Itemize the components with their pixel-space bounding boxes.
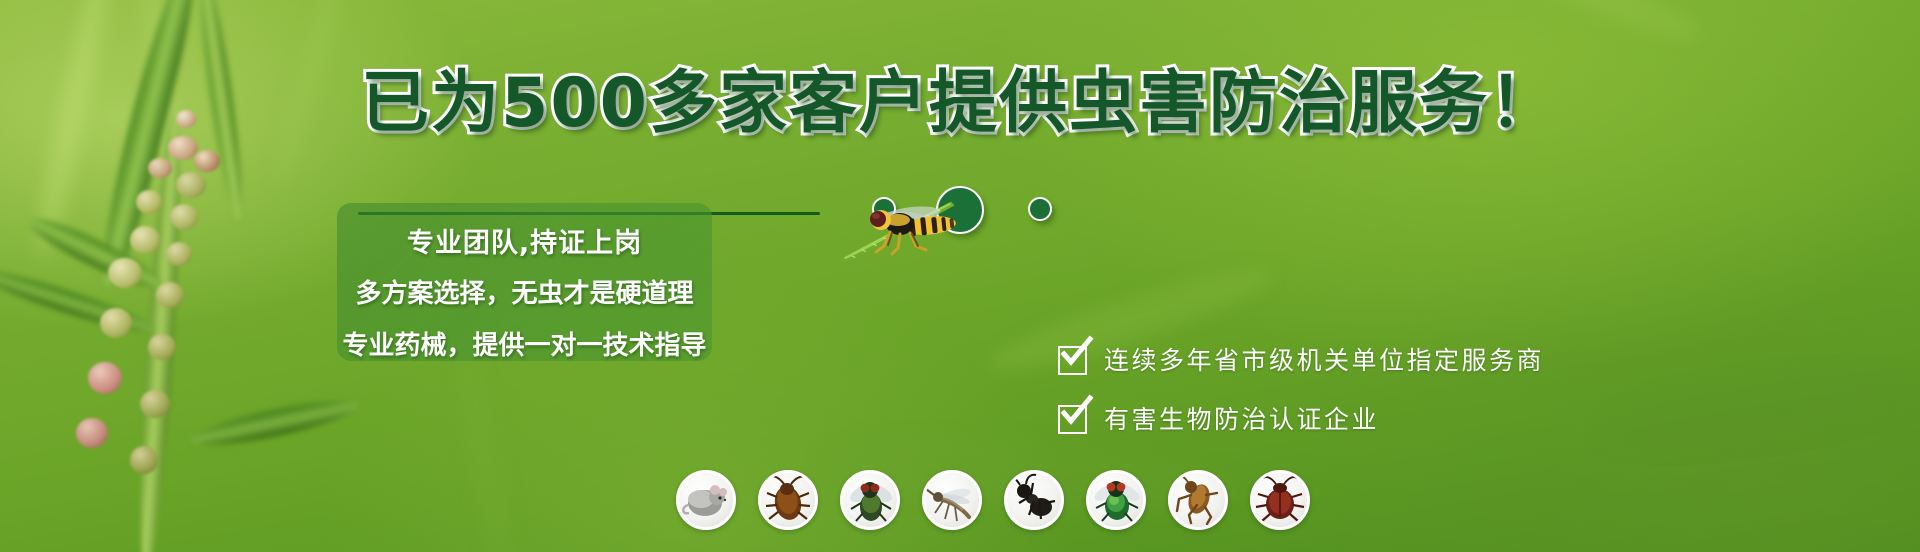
checkbox-checked-icon bbox=[1058, 405, 1087, 434]
credentials-checklist: 连续多年省市级机关单位指定服务商 有害生物防治认证企业 bbox=[1058, 338, 1544, 456]
pest-badge-row bbox=[676, 470, 1310, 530]
bedbug-icon bbox=[1250, 470, 1310, 530]
panel-line-2: 多方案选择，无虫才是硬道理 bbox=[337, 273, 712, 310]
checklist-item: 有害生物防治认证企业 bbox=[1058, 397, 1544, 441]
panel-line-1: 专业团队,持证上岗 bbox=[337, 221, 712, 260]
checklist-item-label: 有害生物防治认证企业 bbox=[1104, 407, 1379, 432]
greenbottle-fly-icon bbox=[1086, 470, 1146, 530]
promotional-banner: 已为500多家客户提供虫害防治服务！ bbox=[0, 0, 1920, 552]
checklist-item-label: 连续多年省市级机关单位指定服务商 bbox=[1104, 348, 1544, 373]
benefits-panel: 专业团队,持证上岗 多方案选择，无虫才是硬道理 专业药械，提供一对一技术指导 bbox=[337, 203, 712, 361]
ant-icon bbox=[1004, 470, 1064, 530]
checkbox-checked-icon bbox=[1058, 346, 1087, 375]
mosquito-icon bbox=[922, 470, 982, 530]
cockroach-icon bbox=[758, 470, 818, 530]
housefly-icon bbox=[840, 470, 900, 530]
mouse-icon bbox=[676, 470, 736, 530]
hoverfly-icon bbox=[848, 200, 968, 260]
checklist-item: 连续多年省市级机关单位指定服务商 bbox=[1058, 338, 1544, 382]
panel-line-3: 专业药械，提供一对一技术指导 bbox=[337, 325, 712, 362]
page-title: 已为500多家客户提供虫害防治服务！ bbox=[0, 70, 1920, 138]
headline-text: 已为500多家客户提供虫害防治服务！ bbox=[361, 64, 1559, 143]
decorative-dot-small-right bbox=[1028, 197, 1052, 221]
flea-icon bbox=[1168, 470, 1228, 530]
